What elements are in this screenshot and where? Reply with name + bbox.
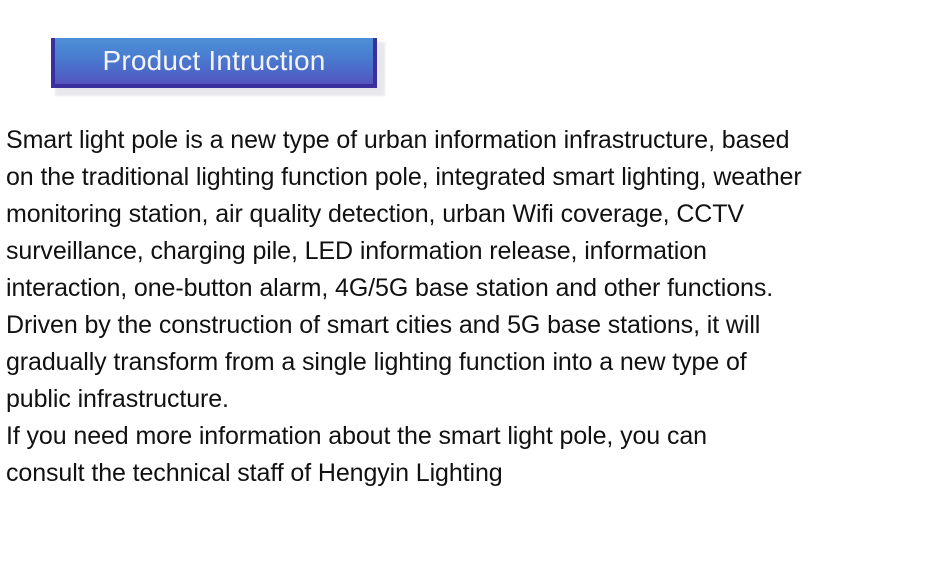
contact-paragraph: If you need more information about the s…: [6, 418, 942, 492]
body-copy: Smart light pole is a new type of urban …: [6, 122, 942, 492]
paragraph-line: monitoring station, air quality detectio…: [6, 196, 942, 233]
paragraph-line: consult the technical staff of Hengyin L…: [6, 455, 942, 492]
intro-paragraph: Smart light pole is a new type of urban …: [6, 122, 942, 418]
paragraph-line: surveillance, charging pile, LED informa…: [6, 233, 942, 270]
paragraph-line: gradually transform from a single lighti…: [6, 344, 942, 381]
paragraph-line: If you need more information about the s…: [6, 418, 942, 455]
product-instruction-page: Product Intruction Smart light pole is a…: [0, 0, 950, 572]
product-instruction-banner: Product Intruction: [51, 38, 381, 92]
paragraph-line: interaction, one-button alarm, 4G/5G bas…: [6, 270, 942, 307]
banner-gradient-box: Product Intruction: [51, 38, 377, 88]
page-title: Product Intruction: [102, 47, 325, 75]
paragraph-line: Smart light pole is a new type of urban …: [6, 122, 942, 159]
paragraph-line: public infrastructure.: [6, 381, 942, 418]
paragraph-line: on the traditional lighting function pol…: [6, 159, 942, 196]
paragraph-line: Driven by the construction of smart citi…: [6, 307, 942, 344]
